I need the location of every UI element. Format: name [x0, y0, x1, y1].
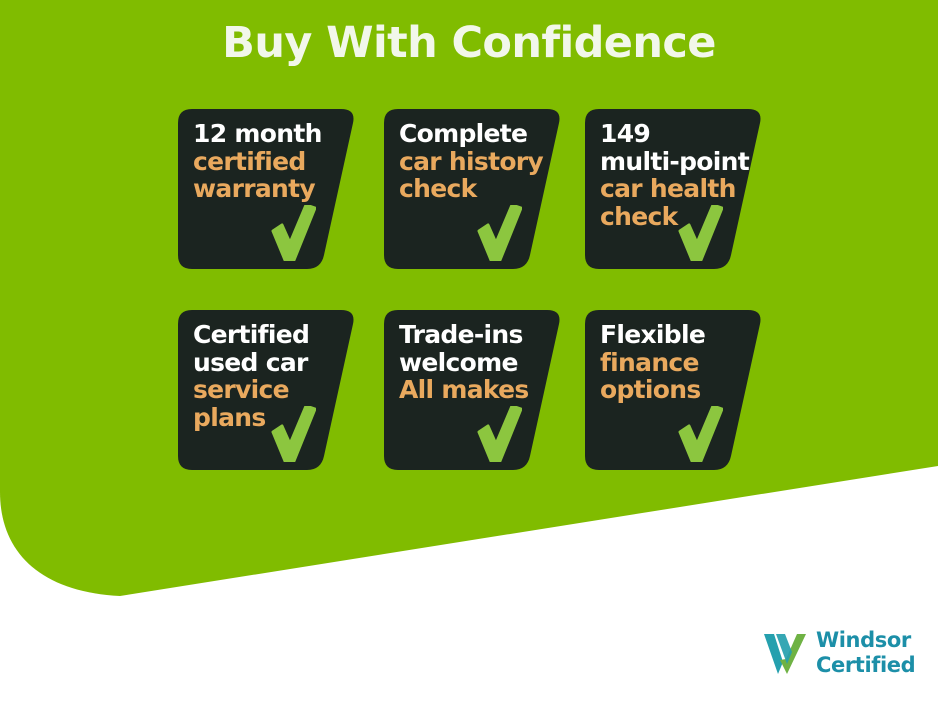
- card-primary-line: Complete: [399, 120, 549, 148]
- card-primary-line: Flexible: [600, 321, 750, 349]
- card-accent-line: check: [600, 203, 750, 231]
- logo-wordmark: Windsor Certified: [816, 628, 915, 678]
- check-icon: [476, 205, 522, 261]
- card-accent-line: check: [399, 175, 549, 203]
- card-accent-line: warranty: [193, 175, 343, 203]
- card-accent-line: options: [600, 376, 750, 404]
- logo-line-2: Certified: [816, 653, 915, 678]
- check-icon: [677, 406, 723, 462]
- feature-card-trade-ins[interactable]: Trade-inswelcomeAll makes: [384, 310, 562, 470]
- card-primary-line: 149: [600, 120, 750, 148]
- card-primary-line: Certified: [193, 321, 343, 349]
- promo-banner: Buy With Confidence 12 monthcertifiedwar…: [0, 0, 938, 704]
- card-text: Certifiedused carserviceplans: [193, 321, 343, 431]
- card-accent-line: finance: [600, 349, 750, 377]
- card-accent-line: car health: [600, 175, 750, 203]
- windsor-w-mark-icon: [760, 630, 812, 674]
- check-icon: [270, 205, 316, 261]
- card-text: 149multi-pointcar healthcheck: [600, 120, 750, 230]
- feature-card-certified-warranty[interactable]: 12 monthcertifiedwarranty: [178, 109, 356, 269]
- card-primary-line: 12 month: [193, 120, 343, 148]
- check-icon: [270, 406, 316, 462]
- card-accent-line: certified: [193, 148, 343, 176]
- card-accent-line: service: [193, 376, 343, 404]
- card-primary-line: multi-point: [600, 148, 750, 176]
- card-accent-line: plans: [193, 404, 343, 432]
- logo-line-1: Windsor: [816, 628, 915, 653]
- feature-card-multi-point-health-check[interactable]: 149multi-pointcar healthcheck: [585, 109, 763, 269]
- check-icon: [677, 205, 723, 261]
- card-text: Completecar historycheck: [399, 120, 549, 203]
- card-accent-line: car history: [399, 148, 549, 176]
- card-text: Flexiblefinanceoptions: [600, 321, 750, 404]
- card-text: Trade-inswelcomeAll makes: [399, 321, 549, 404]
- check-icon: [476, 406, 522, 462]
- feature-card-flexible-finance[interactable]: Flexiblefinanceoptions: [585, 310, 763, 470]
- card-primary-line: used car: [193, 349, 343, 377]
- feature-card-grid: 12 monthcertifiedwarrantyCompletecar his…: [0, 0, 938, 704]
- feature-card-car-history-check[interactable]: Completecar historycheck: [384, 109, 562, 269]
- windsor-certified-logo: Windsor Certified: [760, 626, 930, 682]
- card-text: 12 monthcertifiedwarranty: [193, 120, 343, 203]
- feature-card-service-plans[interactable]: Certifiedused carserviceplans: [178, 310, 356, 470]
- card-primary-line: Trade-ins: [399, 321, 549, 349]
- card-accent-line: All makes: [399, 376, 549, 404]
- card-primary-line: welcome: [399, 349, 549, 377]
